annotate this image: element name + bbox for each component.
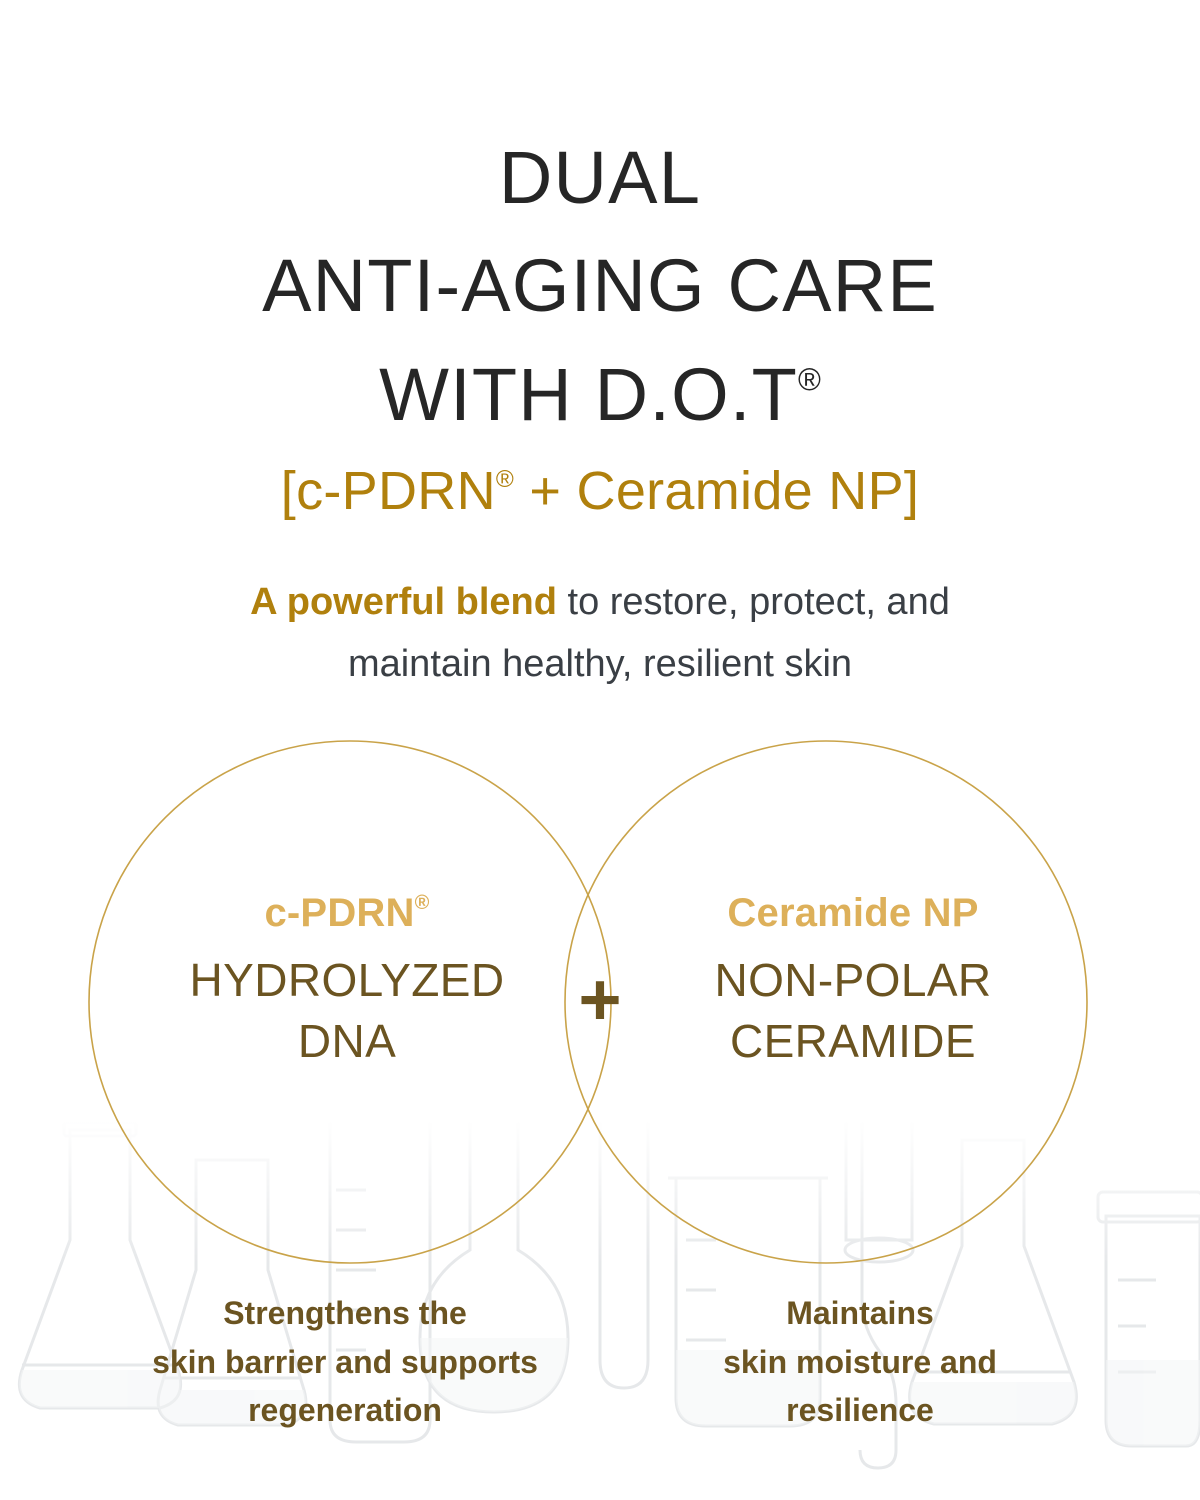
benefit-left-line-3: regeneration	[75, 1386, 615, 1435]
title-line-3-text: WITH D.O.T	[379, 353, 798, 436]
supporting-copy-line-2: maintain healthy, resilient skin	[0, 634, 1200, 696]
supporting-copy-line-1-rest: to restore, protect, and	[557, 581, 950, 623]
venn-label-right: Ceramide NP NON-POLAR CERAMIDE	[618, 893, 1088, 1071]
title-line-3: WITH D.O.T®	[0, 341, 1200, 450]
benefit-text-right: Maintains skin moisture and resilience	[620, 1289, 1100, 1435]
benefit-text-left: Strengthens the skin barrier and support…	[75, 1289, 615, 1435]
title-line-1: DUAL	[0, 124, 1200, 233]
benefit-right-line-2: skin moisture and	[620, 1338, 1100, 1387]
venn-left-ingredient: c-PDRN®	[112, 893, 582, 933]
venn-left-descriptor: HYDROLYZED DNA	[112, 950, 582, 1071]
promo-graphic: DUAL ANTI-AGING CARE WITH D.O.T® [c-PDRN…	[0, 0, 1200, 1500]
benefit-right-line-1: Maintains	[620, 1289, 1100, 1338]
benefit-left-line-1: Strengthens the	[75, 1289, 615, 1338]
supporting-copy: A powerful blend to restore, protect, an…	[0, 572, 1200, 695]
registered-trademark-icon: ®	[496, 466, 514, 493]
venn-left-descriptor-line-2: DNA	[112, 1011, 582, 1072]
venn-left-ingredient-text: c-PDRN	[264, 891, 414, 935]
benefit-left-line-2: skin barrier and supports	[75, 1338, 615, 1387]
venn-label-left: c-PDRN® HYDROLYZED DNA	[112, 893, 582, 1071]
supporting-copy-line-1: A powerful blend to restore, protect, an…	[0, 572, 1200, 634]
formula-line: [c-PDRN® + Ceramide NP]	[0, 462, 1200, 521]
page-title: DUAL ANTI-AGING CARE WITH D.O.T®	[0, 124, 1200, 450]
registered-trademark-icon: ®	[415, 892, 430, 914]
formula-prefix: [c-PDRN	[281, 461, 496, 521]
venn-right-ingredient: Ceramide NP	[618, 893, 1088, 933]
venn-right-descriptor-line-1: NON-POLAR	[618, 950, 1088, 1011]
venn-right-descriptor-line-2: CERAMIDE	[618, 1011, 1088, 1072]
benefit-right-line-3: resilience	[620, 1386, 1100, 1435]
supporting-copy-highlight: A powerful blend	[250, 581, 557, 623]
registered-trademark-icon: ®	[798, 363, 821, 398]
venn-left-descriptor-line-1: HYDROLYZED	[112, 950, 582, 1011]
title-line-2: ANTI-AGING CARE	[0, 232, 1200, 341]
venn-right-descriptor: NON-POLAR CERAMIDE	[618, 950, 1088, 1071]
formula-suffix: + Ceramide NP]	[514, 461, 919, 521]
